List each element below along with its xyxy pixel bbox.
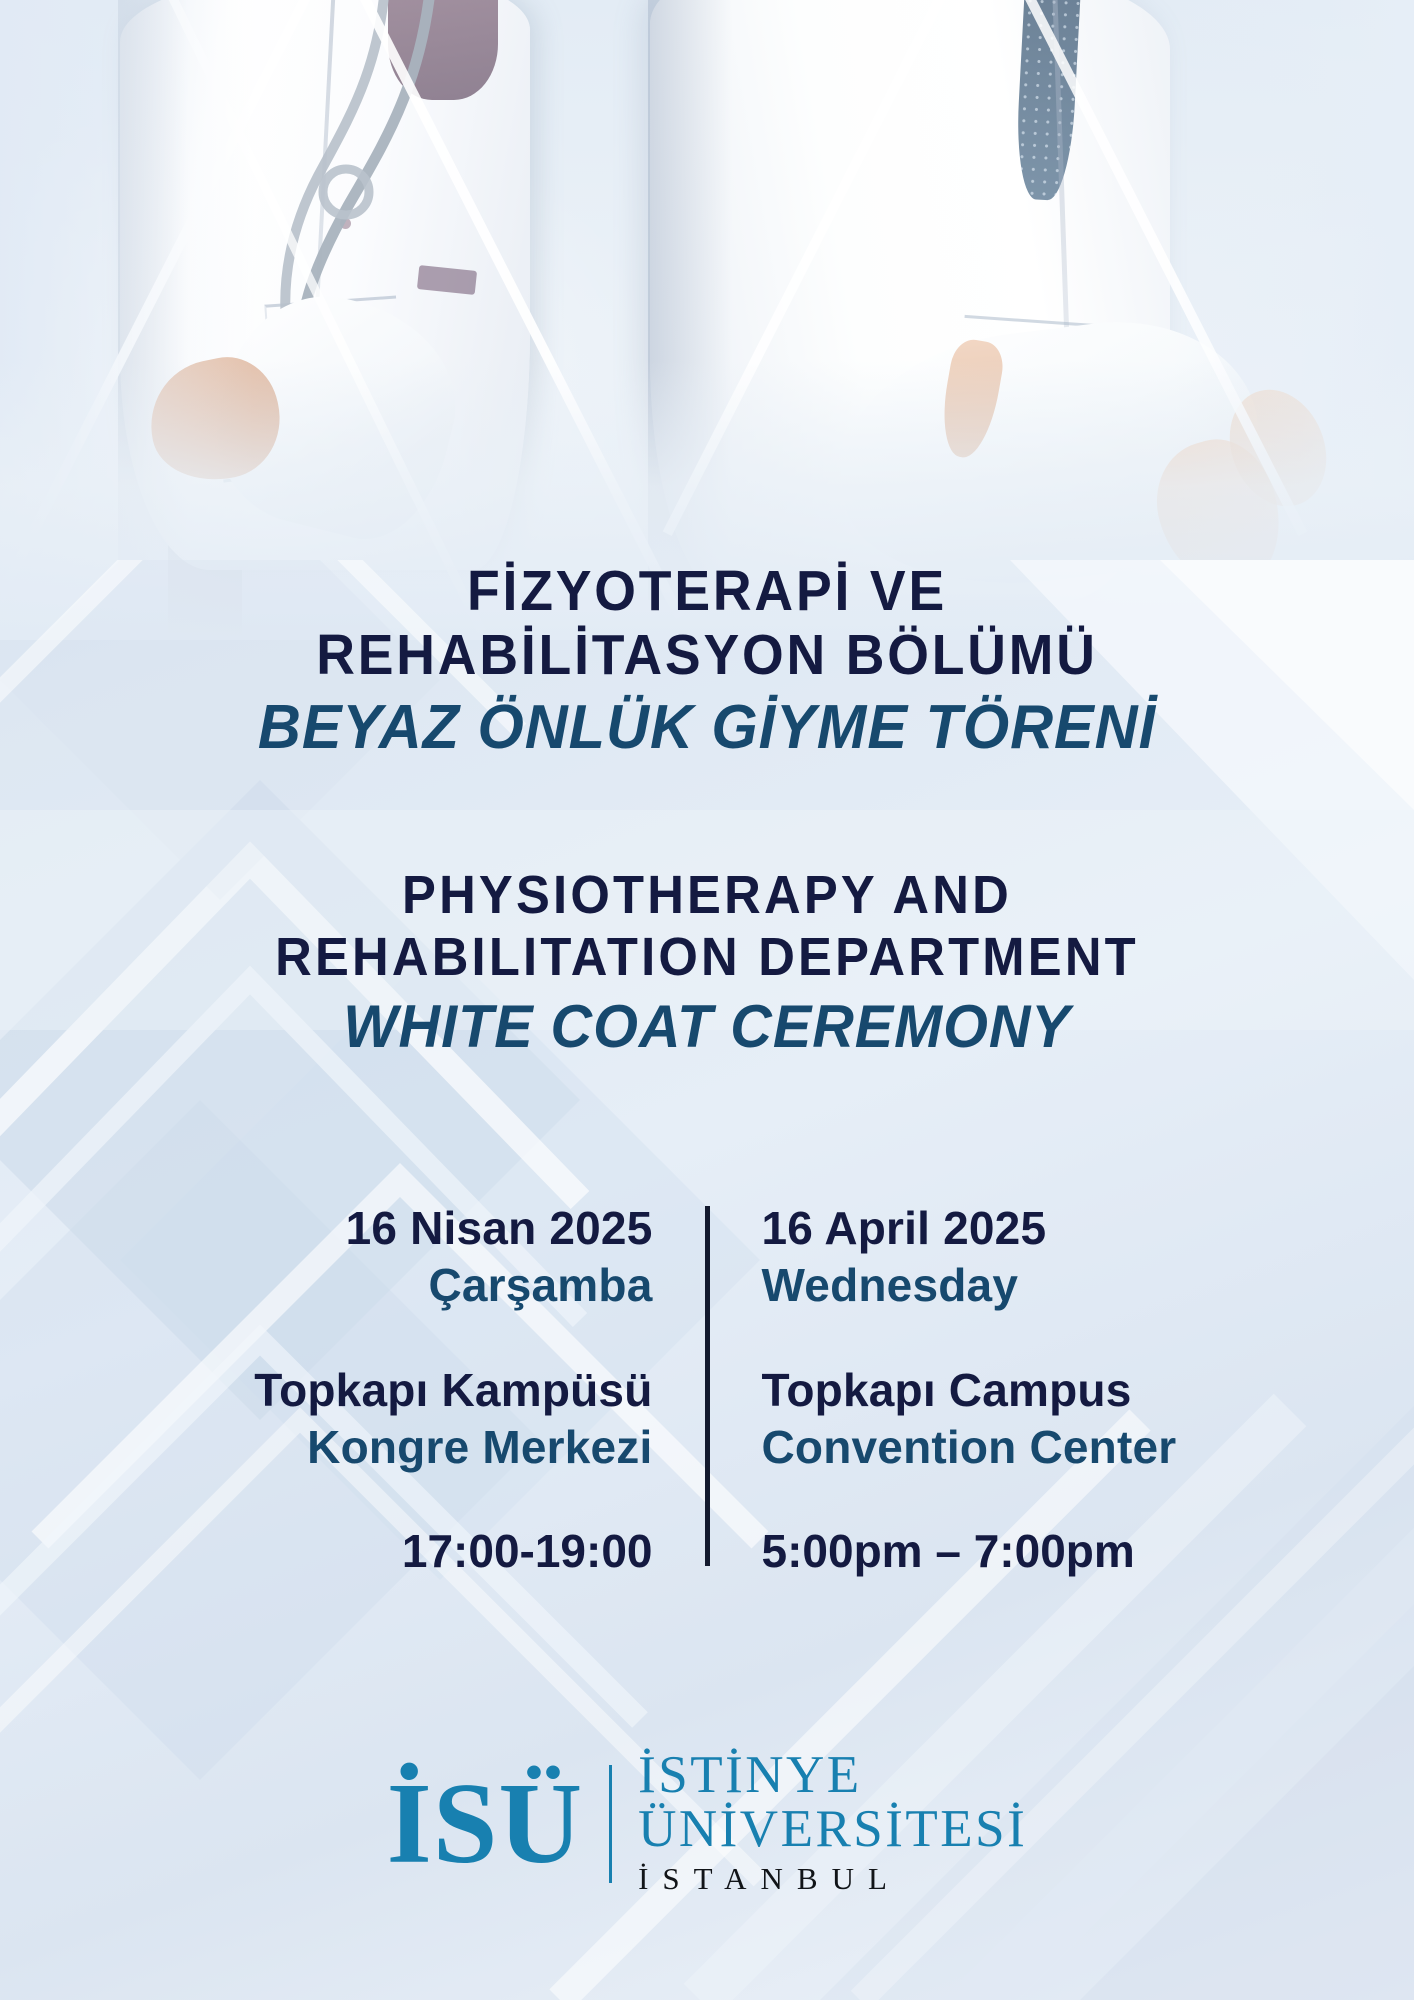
details-time-group-tr: 17:00-19:00 (175, 1524, 653, 1579)
details-column-turkish: 16 Nisan 2025 Çarşamba Topkapı Kampüsü K… (175, 1200, 705, 1579)
date-en: 16 April 2025 (762, 1200, 1240, 1257)
logo-wordmark: İSTİNYE ÜNİVERSİTESİ İSTANBUL (638, 1748, 1027, 1899)
day-tr: Çarşamba (175, 1257, 653, 1314)
details-date-group-en: 16 April 2025 Wednesday (762, 1200, 1240, 1314)
venue-line2-en: Convention Center (762, 1419, 1240, 1476)
details-column-english: 16 April 2025 Wednesday Topkapı Campus C… (710, 1200, 1240, 1579)
logo-monogram: İSÜ (387, 1766, 583, 1882)
english-title-line-2: REHABILITATION DEPARTMENT (42, 927, 1371, 989)
details-venue-group-en: Topkapı Campus Convention Center (762, 1362, 1240, 1476)
turkish-title-block: FİZYOTERAPİ VE REHABİLİTASYON BÖLÜMÜ BEY… (0, 560, 1414, 764)
english-title-line-1: PHYSIOTHERAPY AND (42, 865, 1371, 927)
time-en: 5:00pm – 7:00pm (762, 1524, 1240, 1579)
poster-root: FİZYOTERAPİ VE REHABİLİTASYON BÖLÜMÜ BEY… (0, 0, 1414, 2000)
logo-divider (609, 1765, 612, 1883)
event-details: 16 Nisan 2025 Çarşamba Topkapı Kampüsü K… (0, 1200, 1414, 1579)
details-date-group-tr: 16 Nisan 2025 Çarşamba (175, 1200, 653, 1314)
day-en: Wednesday (762, 1257, 1240, 1314)
turkish-title-line-2: REHABİLİTASYON BÖLÜMÜ (42, 624, 1371, 688)
logo-city: İSTANBUL (638, 1859, 1027, 1899)
details-venue-group-tr: Topkapı Kampüsü Kongre Merkezi (175, 1362, 653, 1476)
english-title-block: PHYSIOTHERAPY AND REHABILITATION DEPARTM… (0, 865, 1414, 1063)
english-title-line-3: WHITE COAT CEREMONY (28, 992, 1385, 1063)
logo-name-line-2: ÜNİVERSİTESİ (638, 1802, 1027, 1856)
turkish-title-line-3: BEYAZ ÖNLÜK GİYME TÖRENİ (28, 692, 1385, 764)
venue-line1-en: Topkapı Campus (762, 1362, 1240, 1419)
venue-line2-tr: Kongre Merkezi (175, 1419, 653, 1476)
turkish-title-line-1: FİZYOTERAPİ VE (42, 560, 1371, 624)
logo-name-line-1: İSTİNYE (638, 1748, 1027, 1802)
date-tr: 16 Nisan 2025 (175, 1200, 653, 1257)
venue-line1-tr: Topkapı Kampüsü (175, 1362, 653, 1419)
time-tr: 17:00-19:00 (175, 1524, 653, 1579)
details-time-group-en: 5:00pm – 7:00pm (762, 1524, 1240, 1579)
logo-inner: İSÜ İSTİNYE ÜNİVERSİTESİ İSTANBUL (387, 1748, 1028, 1899)
poster-content: FİZYOTERAPİ VE REHABİLİTASYON BÖLÜMÜ BEY… (0, 0, 1414, 2000)
university-logo: İSÜ İSTİNYE ÜNİVERSİTESİ İSTANBUL (0, 1748, 1414, 1899)
